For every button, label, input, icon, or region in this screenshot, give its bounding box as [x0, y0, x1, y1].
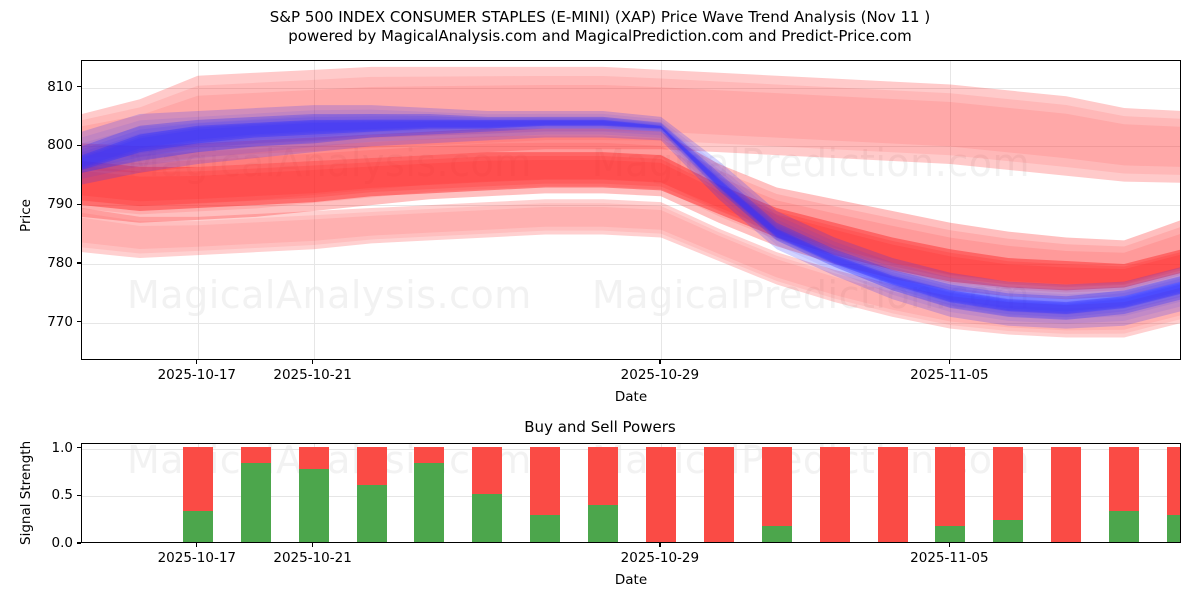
price-xtick-label-3: 2025-10-29 [600, 367, 720, 383]
signal-bar[interactable] [993, 447, 1023, 542]
signal-bar[interactable] [762, 447, 792, 542]
signal-bar[interactable] [183, 447, 213, 542]
buy-power-segment [299, 469, 329, 542]
buy-power-segment [241, 463, 271, 542]
signal-bar[interactable] [414, 447, 444, 542]
buy-power-segment [762, 526, 792, 542]
price-xtick-label-1: 2025-10-21 [253, 367, 373, 383]
signal-xtick-label-0: 2025-10-17 [137, 550, 257, 566]
price-ytick-mark-2 [77, 204, 81, 205]
signal-bar[interactable] [878, 447, 908, 542]
buy-power-segment [530, 515, 560, 542]
price-wave-plot-area: MagicalAnalysis.com MagicalPrediction.co… [81, 60, 1181, 360]
signal-bar[interactable] [646, 447, 676, 542]
price-xtick-mark-0 [196, 360, 197, 364]
buy-power-segment [588, 505, 618, 542]
signal-ytick-mark-0 [77, 542, 81, 543]
signal-xaxis-title: Date [531, 572, 731, 588]
sell-power-segment [1051, 447, 1081, 542]
signal-xtick-mark-3 [659, 543, 660, 547]
signal-bar[interactable] [935, 447, 965, 542]
signal-bar[interactable] [704, 447, 734, 542]
price-ytick-mark-3 [77, 145, 81, 146]
price-ytick-mark-1 [77, 262, 81, 263]
price-ytick-label-4: 810 [13, 79, 73, 95]
sell-power-segment [646, 447, 676, 542]
price-xtick-mark-1 [312, 360, 313, 364]
page-title: S&P 500 INDEX CONSUMER STAPLES (E-MINI) … [0, 8, 1200, 27]
buy-power-segment [1109, 511, 1139, 542]
sell-power-segment [878, 447, 908, 542]
signal-bar[interactable] [299, 447, 329, 542]
page-subtitle: powered by MagicalAnalysis.com and Magic… [0, 27, 1200, 46]
signal-ytick-mark-1 [77, 495, 81, 496]
buy-power-segment [183, 511, 213, 542]
signal-plot-clip: MagicalAnalysis.com MagicalPrediction.co… [82, 444, 1180, 542]
signal-xtick-mark-0 [196, 543, 197, 547]
price-xtick-label-5: 2025-11-05 [889, 367, 1009, 383]
price-xtick-mark-3 [659, 360, 660, 364]
buy-power-segment [993, 520, 1023, 542]
signal-bar[interactable] [1167, 447, 1180, 542]
buy-power-segment [1167, 515, 1180, 542]
price-wave-bands [82, 61, 1180, 359]
signal-bar[interactable] [241, 447, 271, 542]
signal-xtick-label-3: 2025-10-29 [600, 550, 720, 566]
signal-bar[interactable] [820, 447, 850, 542]
price-ytick-mark-4 [77, 86, 81, 87]
signal-bar[interactable] [588, 447, 618, 542]
price-yaxis-title: Price [18, 199, 34, 232]
signal-xtick-label-5: 2025-11-05 [889, 550, 1009, 566]
signal-ytick-mark-2 [77, 447, 81, 448]
chart-page: S&P 500 INDEX CONSUMER STAPLES (E-MINI) … [0, 0, 1200, 600]
price-ytick-label-0: 770 [13, 314, 73, 330]
signal-chart-title: Buy and Sell Powers [0, 418, 1200, 436]
price-xtick-mark-5 [949, 360, 950, 364]
sell-power-segment [704, 447, 734, 542]
buy-power-segment [935, 526, 965, 542]
buy-power-segment [357, 485, 387, 542]
price-ytick-mark-0 [77, 321, 81, 322]
signal-bar[interactable] [1051, 447, 1081, 542]
signal-yaxis-title: Signal Strength [18, 441, 34, 545]
sell-power-segment [820, 447, 850, 542]
signal-plot-area: MagicalAnalysis.com MagicalPrediction.co… [81, 443, 1181, 543]
price-ytick-label-3: 800 [13, 137, 73, 153]
signal-xtick-label-1: 2025-10-21 [253, 550, 373, 566]
price-xaxis-title: Date [531, 389, 731, 405]
signal-bar[interactable] [357, 447, 387, 542]
signal-bar[interactable] [472, 447, 502, 542]
price-plot-clip: MagicalAnalysis.com MagicalPrediction.co… [82, 61, 1180, 359]
chart-title-block: S&P 500 INDEX CONSUMER STAPLES (E-MINI) … [0, 8, 1200, 46]
price-ytick-label-1: 780 [13, 255, 73, 271]
buy-power-segment [414, 463, 444, 542]
signal-xtick-mark-1 [312, 543, 313, 547]
signal-bar[interactable] [1109, 447, 1139, 542]
signal-bar[interactable] [530, 447, 560, 542]
signal-xtick-mark-5 [949, 543, 950, 547]
buy-power-segment [472, 494, 502, 542]
price-xtick-label-0: 2025-10-17 [137, 367, 257, 383]
